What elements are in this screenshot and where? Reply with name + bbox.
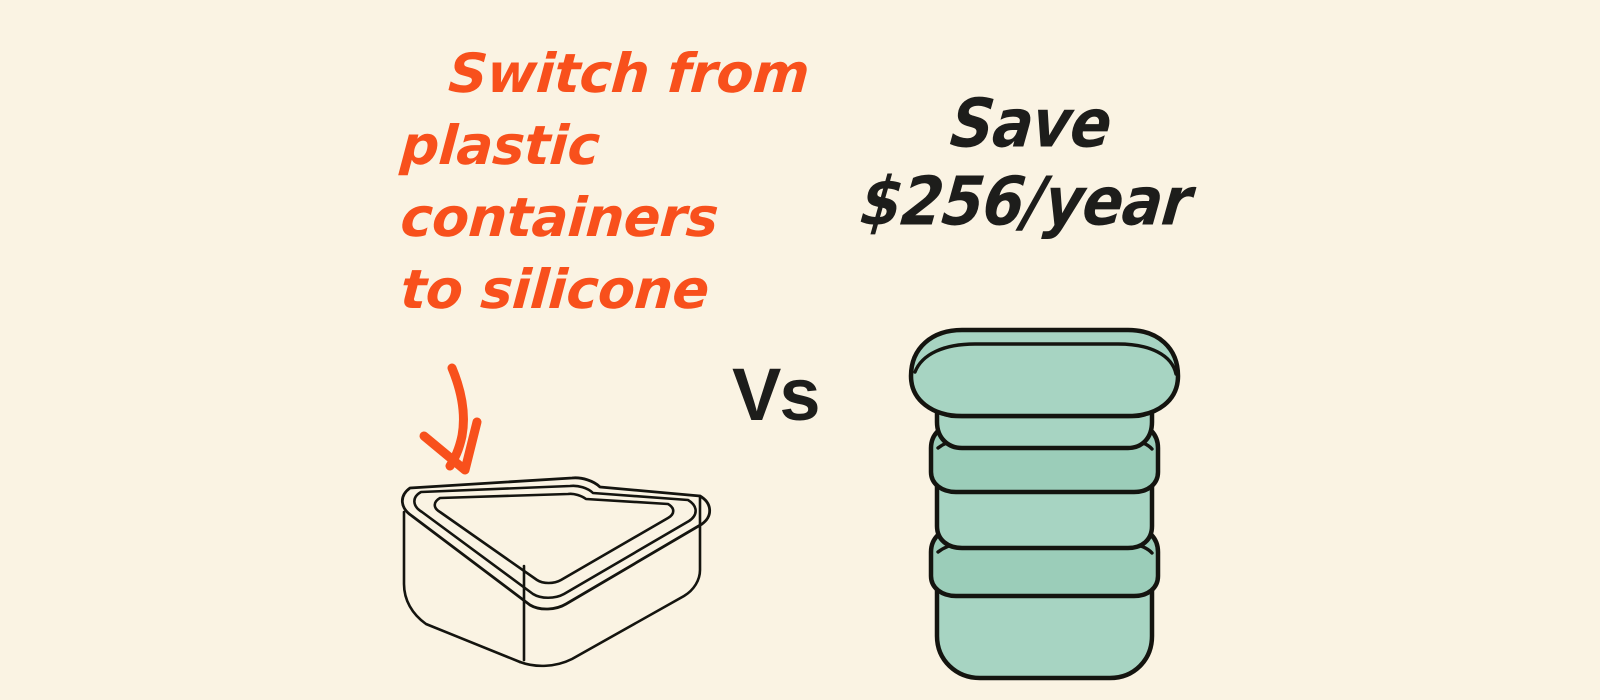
silicone-container-top [911,330,1178,448]
savings-text: Save $256/year [860,95,1260,251]
curved-down-arrow-icon [424,368,477,470]
silicone-container-middle [931,424,1158,548]
headline-text: Switch from plastic containers to silico… [400,48,800,336]
versus-label: Vs [732,358,819,432]
plastic-container-illustration [402,478,709,666]
headline-line-2: plastic [397,120,802,192]
savings-line-2: $256/year [855,168,1264,255]
headline-line-4: to silicone [397,264,802,336]
headline-line-3: containers [397,192,802,264]
illustration-layer [0,0,1600,700]
silicone-container-stack-illustration [911,330,1178,678]
infographic-canvas: Switch from plastic containers to silico… [0,0,1600,700]
headline-line-1: Switch from [397,48,802,120]
silicone-container-bottom [931,528,1158,678]
